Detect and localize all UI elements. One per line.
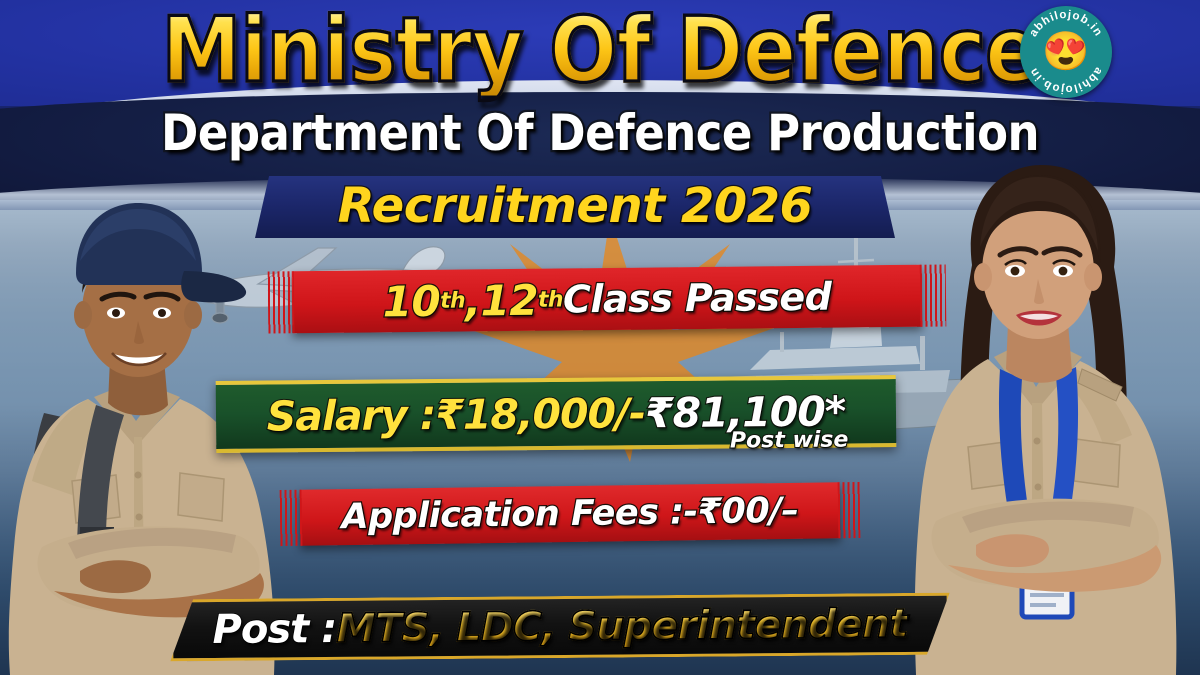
post-banner-label: Post : MTS, LDC, Superintendent xyxy=(170,595,950,660)
salary-post-wise-note: Post wise xyxy=(730,427,849,453)
watermark-logo: abhilojob.in abhilojob.in 😍 xyxy=(1020,6,1112,98)
salary-label: Salary : xyxy=(267,391,436,440)
class-12-suffix: th xyxy=(538,287,563,312)
post-label: Post : xyxy=(212,606,336,653)
recruitment-poster: Ministry Of Defence Department Of Defenc… xyxy=(0,0,1200,675)
application-fees-label: Application Fees :-₹00/– xyxy=(300,484,841,544)
salary-min-value: ₹18,000/- xyxy=(435,389,645,439)
class-10-suffix: th xyxy=(440,288,465,313)
post-names: MTS, LDC, Superintendent xyxy=(336,601,908,652)
class-10-value: 10 xyxy=(382,276,440,326)
class-passed-text: Class Passed xyxy=(563,275,832,322)
heart-eyes-emoji-icon: 😍 xyxy=(1042,33,1089,71)
recruitment-banner-label: Recruitment 2026 xyxy=(255,178,895,234)
qualification-separator: , xyxy=(465,276,481,325)
class-12-value: 12 xyxy=(480,275,538,325)
qualification-banner-label: 10th, 12th Class Passed xyxy=(292,267,923,332)
